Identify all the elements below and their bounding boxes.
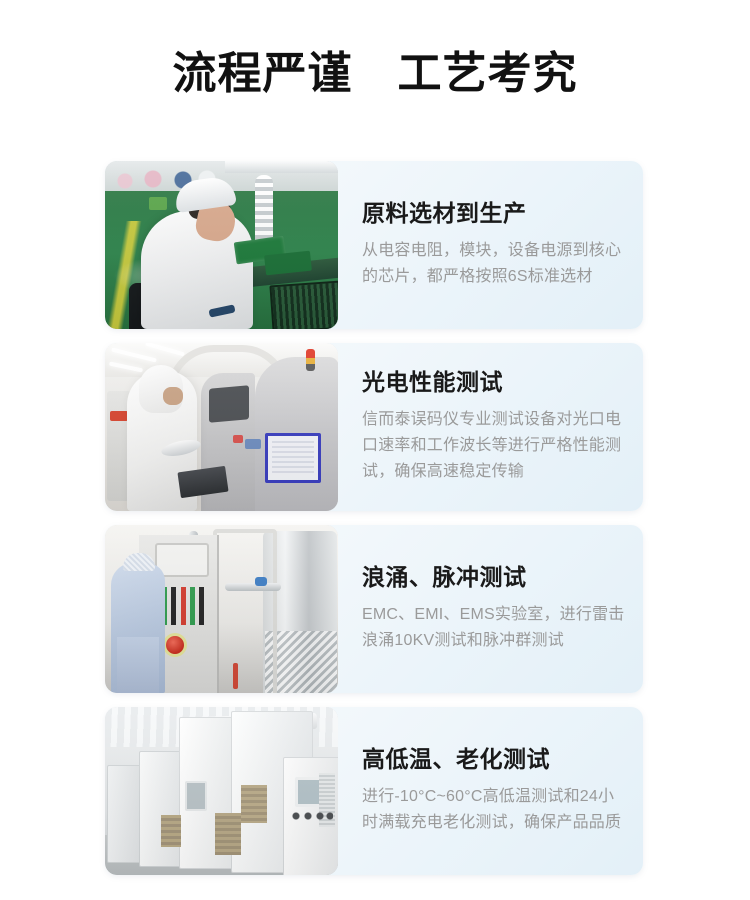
- page-title: 流程严谨 工艺考究: [0, 0, 750, 101]
- process-card[interactable]: 原料选材到生产 从电容电阻，模块，设备电源到核心的芯片，都严格按照6S标准选材: [105, 161, 643, 329]
- cleanroom-optical-test-photo: [105, 343, 338, 511]
- process-card-list: 原料选材到生产 从电容电阻，模块，设备电源到核心的芯片，都严格按照6S标准选材: [105, 161, 643, 875]
- card-heading: 高低温、老化测试: [362, 746, 625, 774]
- card-body: 浪涌、脉冲测试 EMC、EMI、EMS实验室，进行雷击浪涌10KV测试和脉冲群测…: [338, 525, 643, 693]
- process-card[interactable]: 高低温、老化测试 进行-10°C~60°C高低温测试和24小时满载充电老化测试，…: [105, 707, 643, 875]
- card-body: 光电性能测试 信而泰误码仪专业测试设备对光口电口速率和工作波长等进行严格性能测试…: [338, 343, 643, 511]
- card-description: 从电容电阻，模块，设备电源到核心的芯片，都严格按照6S标准选材: [362, 238, 625, 290]
- process-card[interactable]: 浪涌、脉冲测试 EMC、EMI、EMS实验室，进行雷击浪涌10KV测试和脉冲群测…: [105, 525, 643, 693]
- surge-pulse-lab-photo: [105, 525, 338, 693]
- aging-test-chambers-photo: [105, 707, 338, 875]
- card-body: 高低温、老化测试 进行-10°C~60°C高低温测试和24小时满载充电老化测试，…: [338, 707, 643, 875]
- card-heading: 原料选材到生产: [362, 200, 625, 228]
- card-heading: 浪涌、脉冲测试: [362, 564, 625, 592]
- card-body: 原料选材到生产 从电容电阻，模块，设备电源到核心的芯片，都严格按照6S标准选材: [338, 161, 643, 329]
- card-description: 信而泰误码仪专业测试设备对光口电口速率和工作波长等进行严格性能测试，确保高速稳定…: [362, 407, 625, 485]
- card-heading: 光电性能测试: [362, 369, 625, 397]
- card-description: 进行-10°C~60°C高低温测试和24小时满载充电老化测试，确保产品品质: [362, 784, 625, 836]
- pcb-assembly-line-photo: [105, 161, 338, 329]
- card-description: EMC、EMI、EMS实验室，进行雷击浪涌10KV测试和脉冲群测试: [362, 602, 625, 654]
- process-card[interactable]: 光电性能测试 信而泰误码仪专业测试设备对光口电口速率和工作波长等进行严格性能测试…: [105, 343, 643, 511]
